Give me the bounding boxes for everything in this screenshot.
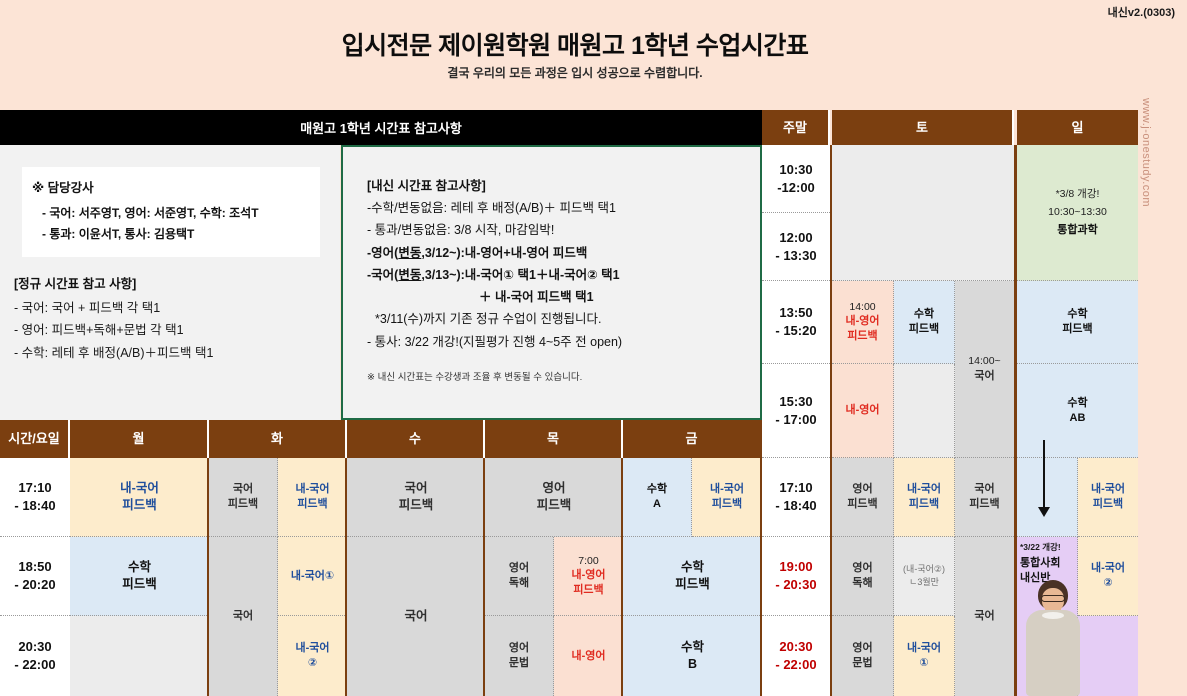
weekday-header-time: 시간/요일 (0, 420, 70, 458)
cell-sat-row12-empty[interactable] (832, 145, 1014, 281)
weekday-time-row-3-end: - 22:00 (14, 656, 55, 674)
cell-sun-b-row6-line2: ② (1103, 576, 1112, 591)
cell-mon-row1-line1: 내-국어 (120, 480, 159, 497)
teacher-box-heading: ※ 담당강사 (32, 177, 310, 196)
website-url: www.j-onestudy.com (1140, 98, 1152, 278)
regular-line-3: - 수학: 레테 후 배정(A/B)＋피드백 택1 (14, 342, 334, 364)
cell-sat-b-row3[interactable]: 수학 피드백 (894, 281, 955, 364)
weekday-header-time-label: 시간/요일 (8, 430, 59, 448)
cell-sat-a-row7-line1: 영어 (852, 641, 872, 656)
cell-sun-a-row67-line1: 통합사회 (1020, 556, 1060, 571)
cell-sun-b-row5-line1: 내-국어 (1091, 482, 1125, 497)
weekend-time-row-1: 10:30 -12:00 (762, 145, 830, 213)
cell-tue-b-row3[interactable]: 내-국어 ② (278, 616, 347, 696)
timetable-page: 내신v2.(0303) 입시전문 제이원학원 매원고 1학년 수업시간표 결국 … (0, 0, 1187, 696)
cell-mon-row1[interactable]: 내-국어 피드백 (70, 458, 209, 537)
notice-heading: [내신 시간표 참고사항] (367, 175, 760, 194)
cell-tue-b-row1-line1: 내-국어 (295, 482, 329, 497)
cell-wed-row23[interactable]: 국어 (347, 537, 485, 696)
notice-line-3-b: ,3/12~):내-영어+내-영어 피드백 (421, 246, 587, 260)
weekend-time-row-2: 12:00 - 13:30 (762, 213, 830, 281)
weekday-header-tue: 화 (209, 420, 347, 458)
cell-sat-b-row6-line1: (내-국어②) (903, 563, 945, 577)
page-subtitle: 결국 우리의 모든 과정은 입시 성공으로 수렴합니다. (0, 64, 1150, 81)
weekday-time-row-2: 18:50 - 20:20 (0, 537, 70, 616)
cell-mon-row2-line1: 수학 (128, 559, 151, 576)
cell-sat-b-row6[interactable]: (내-국어②) ㄴ3월만 (894, 537, 955, 616)
cell-fri-a-row1[interactable]: 수학 A (623, 458, 692, 537)
weekend-header-time: 주말 (762, 110, 830, 145)
cell-fri-row2-line1: 수학 (681, 559, 704, 576)
weekday-time-row-2-end: - 20:20 (14, 576, 55, 594)
cell-fri-b-row1-line2: 피드백 (712, 497, 742, 512)
cell-sat-c-row5-line1: 국어 (974, 482, 994, 497)
cell-sun-row12[interactable]: *3/8 개강! 10:30~13:30 통합과학 (1017, 145, 1138, 281)
weekday-time-row-1-start: 17:10 (18, 479, 51, 497)
cell-thu-row1-line1: 영어 (542, 480, 565, 497)
teacher-line-2: - 통과: 이윤서T, 통사: 김용택T (42, 224, 310, 245)
cell-sat-a-row6-line1: 영어 (852, 561, 872, 576)
cell-thu-a-row3[interactable]: 영어 문법 (485, 616, 554, 696)
cell-sat-b-row3-line2: 피드백 (909, 322, 939, 337)
notice-banner-label: 매원고 1학년 시간표 참고사항 (300, 118, 462, 137)
notice-line-2: - 통과/변동없음: 3/8 시작, 마감임박! (367, 219, 760, 241)
cell-thu-a-row2-line2: 독해 (509, 576, 529, 591)
cell-sat-a-row5[interactable]: 영어 피드백 (832, 458, 894, 537)
weekend-time-row-7: 20:30 - 22:00 (762, 616, 830, 696)
notice-banner: 매원고 1학년 시간표 참고사항 (0, 110, 762, 145)
cell-sun-b-row5-line2: 피드백 (1093, 497, 1123, 512)
weekend-time-row-1-end: -12:00 (777, 179, 815, 197)
cell-sat-a-row3[interactable]: 14:00 내-영어 피드백 (832, 281, 894, 364)
cell-sat-a-row4-label: 내-영어 (845, 403, 879, 418)
weekend-header-time-label: 주말 (783, 119, 807, 137)
cell-sat-a-row6-line2: 독해 (852, 576, 872, 591)
weekend-time-row-7-start: 20:30 (779, 638, 812, 656)
regular-schedule-box: [정규 시간표 참고 사항] - 국어: 국어 + 피드백 각 택1 - 영어:… (14, 273, 334, 364)
weekday-time-row-1-end: - 18:40 (14, 497, 55, 515)
cell-fri-a-row1-line2: A (653, 497, 661, 512)
cell-sat-b-row3-line1: 수학 (914, 307, 934, 322)
regular-box-heading: [정규 시간표 참고 사항] (14, 273, 334, 292)
cell-thu-b-row3-label: 내-영어 (571, 649, 605, 664)
cell-thu-row1[interactable]: 영어 피드백 (485, 458, 623, 537)
info-panel: ※ 담당강사 - 국어: 서주영T, 영어: 서준영T, 수학: 조석T - 통… (0, 145, 340, 420)
page-title: 입시전문 제이원학원 매원고 1학년 수업시간표 (0, 26, 1150, 62)
cell-fri-row3-line1: 수학 (681, 639, 704, 656)
weekend-time-row-4-start: 15:30 (779, 393, 812, 411)
cell-sat-a-row4[interactable]: 내-영어 (832, 364, 894, 458)
weekday-header-thu: 목 (485, 420, 623, 458)
notice-line-3-underline: 변동 (398, 246, 421, 260)
cell-wed-row1[interactable]: 국어 피드백 (347, 458, 485, 537)
cell-sun-row12-line3: 통합과학 (1057, 223, 1097, 238)
cell-mon-row1-line2: 피드백 (122, 497, 157, 514)
cell-tue-b-row3-line1: 내-국어 (295, 641, 329, 656)
weekday-header-fri-label: 금 (686, 430, 698, 448)
notice-footnote: ※ 내신 시간표는 수강생과 조율 후 변동될 수 있습니다. (367, 369, 760, 383)
cell-mon-row2[interactable]: 수학 피드백 (70, 537, 209, 616)
glasses-icon (1041, 595, 1065, 602)
cell-sun-row3-line1: 수학 (1067, 307, 1087, 322)
weekend-header-sat-label: 토 (916, 119, 928, 137)
cell-sat-c-row34-time: 14:00~ (968, 354, 1000, 368)
notice-line-3-a: -영어( (367, 246, 398, 260)
cell-sat-a-row5-line1: 영어 (852, 482, 872, 497)
weekday-header-tue-label: 화 (271, 430, 283, 448)
cell-sat-a-row6[interactable]: 영어 독해 (832, 537, 894, 616)
weekend-time-row-1-start: 10:30 (779, 161, 812, 179)
weekend-time-row-6-end: - 20:30 (775, 576, 816, 594)
weekend-header-sun: 일 (1017, 110, 1138, 145)
cell-thu-a-row2-line1: 영어 (509, 561, 529, 576)
notice-line-4-underline: 변동 (398, 268, 421, 282)
cell-tue-a-row23[interactable]: 국어 (209, 537, 278, 696)
cell-thu-b-row2-line2: 피드백 (573, 583, 603, 598)
cell-sat-b-row7[interactable]: 내-국어 ① (894, 616, 955, 696)
cell-thu-b-row2-time: 7:00 (578, 554, 598, 568)
weekend-time-row-2-start: 12:00 (779, 229, 812, 247)
cell-sat-c-row67-label: 국어 (974, 609, 994, 624)
cell-sun-row4-line1: 수학 (1067, 396, 1087, 411)
teacher-photo (1022, 580, 1082, 696)
teacher-photo-body (1026, 610, 1080, 696)
weekday-header-wed-label: 수 (409, 430, 421, 448)
cell-fri-row2-line2: 피드백 (675, 576, 710, 593)
cell-sat-a-row3-line1: 내-영어 (845, 314, 879, 329)
notice-line-1: -수학/변동없음: 레테 후 배정(A/B)＋ 피드백 택1 (367, 197, 760, 219)
cell-sun-b-row6-line1: 내-국어 (1091, 561, 1125, 576)
regular-line-1: - 국어: 국어 + 피드백 각 택1 (14, 297, 334, 319)
weekend-time-row-5-start: 17:10 (779, 479, 812, 497)
cell-thu-a-row3-line2: 문법 (509, 656, 529, 671)
cell-thu-b-row2[interactable]: 7:00 내-영어 피드백 (554, 537, 623, 616)
cell-sat-b-row6-line2: ㄴ3월만 (909, 576, 939, 590)
weekend-time-row-3: 13:50 - 15:20 (762, 281, 830, 364)
weekend-time-row-4: 15:30 - 17:00 (762, 364, 830, 458)
cell-thu-b-row2-line1: 내-영어 (571, 568, 605, 583)
cell-sun-row3[interactable]: 수학 피드백 (1017, 281, 1138, 364)
teacher-photo-collar (1042, 612, 1064, 619)
cell-sat-b-row5[interactable]: 내-국어 피드백 (894, 458, 955, 537)
notice-line-4-b: ,3/13~):내-국어① 택1＋내-국어② 택1 (421, 268, 619, 282)
cell-tue-b-row2[interactable]: 내-국어① (278, 537, 347, 616)
weekend-header-sat: 토 (832, 110, 1014, 145)
cell-fri-row2[interactable]: 수학 피드백 (623, 537, 762, 616)
cell-sat-b-row5-line2: 피드백 (909, 497, 939, 512)
cell-fri-b-row1-line1: 내-국어 (710, 482, 744, 497)
naesin-notice-box: [내신 시간표 참고사항] -수학/변동없음: 레테 후 배정(A/B)＋ 피드… (341, 145, 762, 420)
cell-fri-b-row1[interactable]: 내-국어 피드백 (692, 458, 762, 537)
weekday-header-fri: 금 (623, 420, 762, 458)
weekday-header-thu-label: 목 (547, 430, 559, 448)
cell-sun-b-row5[interactable]: 내-국어 피드백 (1078, 458, 1138, 537)
cell-thu-a-row2[interactable]: 영어 독해 (485, 537, 554, 616)
cell-wed-row1-line1: 국어 (404, 480, 427, 497)
cell-mon-row3[interactable] (70, 616, 209, 696)
cell-sun-a-row5[interactable] (1017, 458, 1078, 537)
cell-tue-b-row1-line2: 피드백 (297, 497, 327, 512)
cell-sun-row4-line2: AB (1070, 411, 1086, 426)
cell-thu-row1-line2: 피드백 (537, 497, 572, 514)
down-arrow-icon (1043, 440, 1045, 508)
weekend-time-row-2-end: - 13:30 (775, 247, 816, 265)
cell-sat-c-row5[interactable]: 국어 피드백 (955, 458, 1014, 537)
notice-line-3: -영어(변동,3/12~):내-영어+내-영어 피드백 (367, 242, 760, 264)
cell-sat-a-row7-line2: 문법 (852, 656, 872, 671)
notice-line-6: *3/11(수)까지 기존 정규 수업이 진행됩니다. (367, 308, 760, 330)
cell-thu-a-row3-line1: 영어 (509, 641, 529, 656)
notice-line-4: -국어(변동,3/13~):내-국어① 택1＋내-국어② 택1 (367, 264, 760, 286)
cell-tue-a-row1-line2: 피드백 (228, 497, 258, 512)
weekend-time-row-6-start: 19:00 (779, 558, 812, 576)
cell-sat-b-row7-line1: 내-국어 (907, 641, 941, 656)
weekday-time-row-3-start: 20:30 (18, 638, 51, 656)
cell-sat-c-row67[interactable]: 국어 (955, 537, 1014, 696)
cell-sat-c-row34-label: 국어 (974, 369, 994, 384)
cell-sat-a-row3-line2: 피드백 (847, 329, 877, 344)
cell-wed-row1-line2: 피드백 (399, 497, 434, 514)
weekday-time-row-2-start: 18:50 (18, 558, 51, 576)
cell-tue-a-row23-label: 국어 (233, 609, 253, 624)
cell-sun-row12-line1: *3/8 개강! (1056, 187, 1100, 201)
weekend-time-row-3-end: - 15:20 (775, 322, 816, 340)
weekend-time-row-4-end: - 17:00 (775, 411, 816, 429)
notice-line-5: ＋ 내-국어 피드백 택1 (367, 286, 760, 308)
cell-sat-a-row3-time: 14:00 (849, 300, 875, 314)
cell-fri-row3[interactable]: 수학 B (623, 616, 762, 696)
cell-mon-row2-line2: 피드백 (122, 576, 157, 593)
notice-line-4-a: -국어( (367, 268, 398, 282)
teacher-box: ※ 담당강사 - 국어: 서주영T, 영어: 서준영T, 수학: 조석T - 통… (22, 167, 320, 257)
cell-sat-c-row5-line2: 피드백 (969, 497, 999, 512)
cell-sat-b-row4[interactable] (894, 364, 955, 458)
cell-thu-b-row3[interactable]: 내-영어 (554, 616, 623, 696)
cell-sun-b-row7[interactable] (1078, 616, 1138, 696)
cell-sun-row4[interactable]: 수학 AB (1017, 364, 1138, 458)
cell-tue-b-row2-label: 내-국어① (291, 569, 334, 584)
cell-sun-a-row67-note: *3/22 개강! (1020, 541, 1061, 554)
weekend-header-sun-label: 일 (1072, 119, 1084, 137)
cell-tue-b-row1[interactable]: 내-국어 피드백 (278, 458, 347, 537)
cell-tue-b-row3-line2: ② (308, 656, 317, 671)
cell-fri-row3-line2: B (688, 656, 697, 673)
cell-sun-row3-line2: 피드백 (1062, 322, 1092, 337)
version-label: 내신v2.(0303) (1108, 4, 1175, 20)
weekend-time-row-5-end: - 18:40 (775, 497, 816, 515)
cell-sat-b-row7-line2: ① (919, 656, 928, 671)
cell-sun-b-row6[interactable]: 내-국어 ② (1078, 537, 1138, 616)
cell-sat-c-row34[interactable]: 14:00~ 국어 (955, 281, 1014, 458)
weekday-header-mon-label: 월 (133, 430, 145, 448)
notice-line-7: - 통사: 3/22 개강!(지필평가 진행 4~5주 전 open) (367, 331, 760, 353)
weekday-header-wed: 수 (347, 420, 485, 458)
teacher-line-1: - 국어: 서주영T, 영어: 서준영T, 수학: 조석T (42, 203, 310, 224)
weekday-time-row-1: 17:10 - 18:40 (0, 458, 70, 537)
regular-line-2: - 영어: 피드백+독해+문법 각 택1 (14, 319, 334, 341)
weekend-time-row-3-start: 13:50 (779, 304, 812, 322)
cell-wed-row23-label: 국어 (404, 608, 427, 625)
weekend-time-row-6: 19:00 - 20:30 (762, 537, 830, 616)
weekday-header-mon: 월 (70, 420, 209, 458)
cell-sat-a-row7[interactable]: 영어 문법 (832, 616, 894, 696)
cell-tue-a-row1-line1: 국어 (233, 482, 253, 497)
weekday-time-row-3: 20:30 - 22:00 (0, 616, 70, 696)
cell-fri-a-row1-line1: 수학 (647, 482, 667, 497)
cell-sat-b-row5-line1: 내-국어 (907, 482, 941, 497)
weekend-time-row-5: 17:10 - 18:40 (762, 458, 830, 537)
cell-sun-row12-line2: 10:30~13:30 (1048, 205, 1107, 219)
cell-tue-a-row1[interactable]: 국어 피드백 (209, 458, 278, 537)
cell-sat-a-row5-line2: 피드백 (847, 497, 877, 512)
weekend-time-row-7-end: - 22:00 (775, 656, 816, 674)
